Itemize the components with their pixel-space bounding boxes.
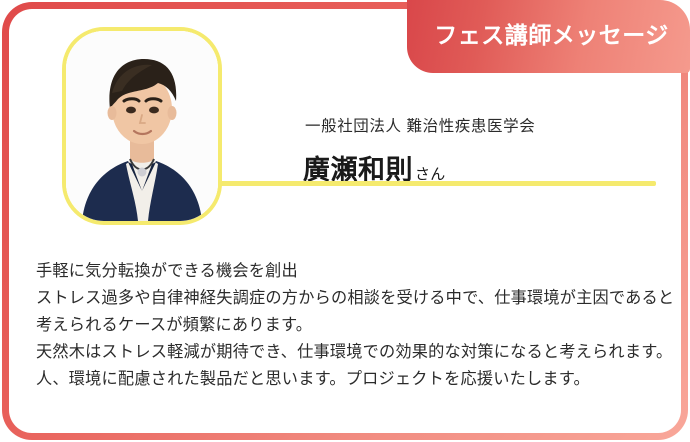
message-line: ストレス過多や自律神経失調症の方からの相談を受ける中で、仕事環境が主因であると [36, 285, 661, 312]
header-badge: フェス講師メッセージ [407, 0, 690, 73]
message-line: 天然木はストレス軽減が期待でき、仕事環境での効果的な対策になると考えられます。 [36, 339, 661, 366]
name-underline [218, 181, 656, 186]
header-badge-label: フェス講師メッセージ [428, 24, 669, 49]
speaker-portrait-frame [62, 27, 222, 225]
speaker-message-card: フェス講師メッセージ [0, 0, 690, 442]
message-line: 手軽に気分転換ができる機会を創出 [36, 258, 661, 285]
message-line: 考えられるケースが頻繁にあります。 [36, 312, 661, 339]
message-body: 手軽に気分転換ができる機会を創出 ストレス過多や自律神経失調症の方からの相談を受… [36, 258, 661, 393]
speaker-organization: 一般社団法人 難治性疾患医学会 [305, 114, 535, 136]
message-line: 人、環境に配慮された製品だと思います。プロジェクトを応援いたします。 [36, 366, 661, 393]
speaker-portrait-photo [66, 31, 218, 221]
